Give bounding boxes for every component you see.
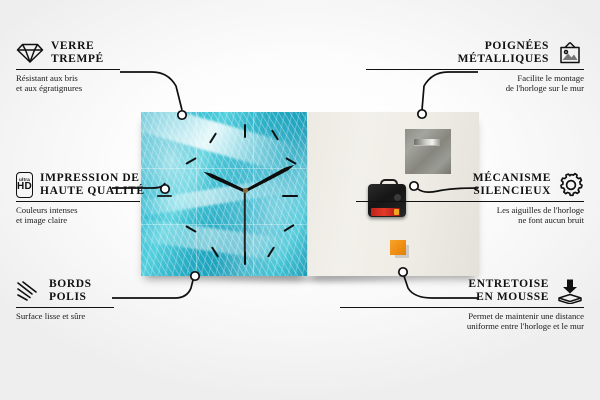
- feature-description: Surface lisse et sûre: [16, 311, 114, 321]
- feature-description: Facilite le montage de l'horloge sur le …: [366, 73, 584, 94]
- feature-title: POIGNÉES MÉTALLIQUES: [458, 40, 549, 66]
- clock-tick: [157, 195, 172, 197]
- feature-divider: [366, 69, 584, 70]
- feature-description: Permet de maintenir une distance uniform…: [340, 311, 584, 332]
- feature-bords-polis: BORDS POLIS Surface lisse et sûre: [16, 278, 114, 321]
- diamond-icon: [16, 42, 44, 64]
- feature-poignees-metalliques: POIGNÉES MÉTALLIQUES Facilite le montage…: [366, 40, 584, 94]
- feature-description: Couleurs intenses et image claire: [16, 205, 140, 226]
- clock-center-pin: [243, 188, 248, 193]
- clock-tick: [244, 124, 246, 138]
- feature-title: ENTRETOISE EN MOUSSE: [468, 278, 549, 304]
- glass-seam-h1: [141, 168, 307, 169]
- feature-mecanisme-silencieux: MÉCANISME SILENCIEUX Les aiguilles de l'…: [356, 172, 584, 226]
- feature-description: Résistant aux bris et aux égratignures: [16, 73, 120, 94]
- feature-entretoise-en-mousse: ENTRETOISE EN MOUSSE Permet de maintenir…: [340, 278, 584, 332]
- feature-divider: [356, 201, 584, 202]
- infographic-canvas: VERRE TREMPÉ Résistant aux bris et aux é…: [0, 0, 600, 400]
- feature-divider: [16, 307, 114, 308]
- feature-divider: [340, 307, 584, 308]
- feature-impression-haute-qualite: ultra HD IMPRESSION DE HAUTE QUALITÉ Cou…: [16, 172, 140, 226]
- hanger-slot: [414, 139, 440, 145]
- feature-title: BORDS POLIS: [49, 278, 92, 304]
- feature-title: IMPRESSION DE HAUTE QUALITÉ: [40, 172, 145, 198]
- clock-front-face: [141, 112, 307, 276]
- glass-seam-h2: [141, 224, 307, 225]
- foam-spacer-pad: [390, 240, 406, 255]
- feature-divider: [16, 201, 140, 202]
- ultra-hd-icon: ultra HD: [16, 172, 33, 198]
- picture-frame-icon: [556, 41, 584, 65]
- glass-seam-right: [253, 112, 254, 276]
- feature-title: MÉCANISME SILENCIEUX: [473, 172, 551, 198]
- foam-spacer-icon: [556, 278, 584, 304]
- gear-icon: [558, 172, 584, 198]
- feature-description: Les aiguilles de l'horloge ne font aucun…: [356, 205, 584, 226]
- feature-divider: [16, 69, 120, 70]
- glass-seam-left: [196, 112, 197, 276]
- clock-tick: [244, 251, 246, 265]
- feature-verre-trempe: VERRE TREMPÉ Résistant aux bris et aux é…: [16, 40, 120, 94]
- clock-second-hand: [244, 191, 246, 253]
- metal-hanger-plate: [405, 129, 451, 174]
- polished-edges-icon: [16, 280, 42, 302]
- feature-title: VERRE TREMPÉ: [51, 40, 104, 66]
